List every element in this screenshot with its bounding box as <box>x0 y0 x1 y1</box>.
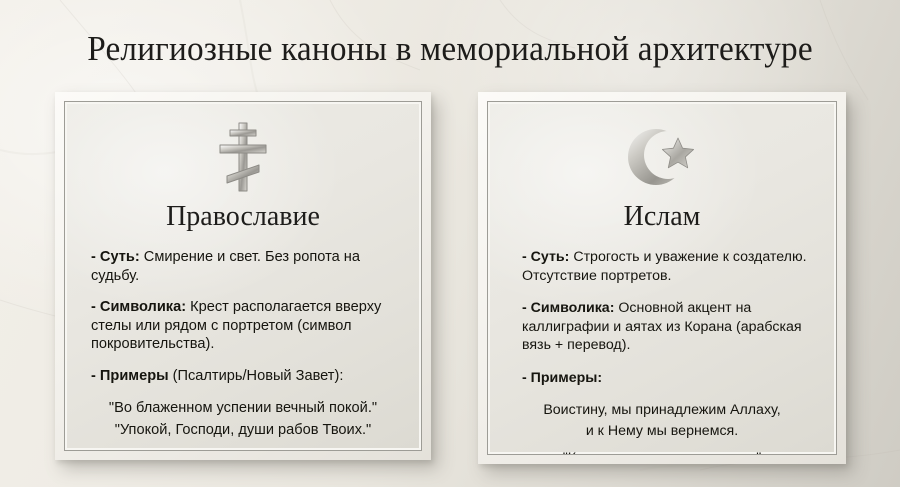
quote-list-islam: Воистину, мы принадлежим Аллаху, и к Нем… <box>504 401 820 455</box>
slide-canvas: Религиозные каноны в мемориальной архите… <box>0 0 900 487</box>
quote-item: "Во блаженном успении вечный покой." <box>83 398 403 418</box>
panel-heading-orthodox: Православие <box>81 200 405 234</box>
panel-islam: Ислам - Суть: Строгость и уважение к соз… <box>478 92 846 464</box>
bullet-item: - Суть: Строгость и уважение к создателю… <box>522 248 816 285</box>
bullet-item: - Символика: Основной акцент на каллигра… <box>522 299 816 355</box>
bullet-lead: - Символика: <box>91 299 186 315</box>
panel-orthodox: Православие - Суть: Смирение и свет. Без… <box>55 92 431 460</box>
panel-heading-islam: Ислам <box>504 200 820 234</box>
quote-item: "Упокой, Господи, души рабов Твоих." <box>83 420 403 440</box>
quote-item: и к Нему мы вернемся. <box>506 422 818 441</box>
bullet-lead: - Суть: <box>522 249 569 265</box>
bullet-item: - Примеры: <box>522 369 816 388</box>
bullet-lead: - Суть: <box>91 249 140 265</box>
panel-orthodox-inner: Православие - Суть: Смирение и свет. Без… <box>64 101 422 451</box>
bullet-lead: - Символика: <box>522 300 614 316</box>
bullet-list-islam: - Суть: Строгость и уважение к создателю… <box>504 248 820 387</box>
quote-list-orthodox: "Во блаженном успении вечный покой." "Уп… <box>81 398 405 440</box>
bullet-text: (Псалтирь/Новый Завет): <box>169 368 344 384</box>
bullet-item: - Суть: Смирение и свет. Без ропота на с… <box>91 248 399 285</box>
orthodox-cross-icon <box>81 118 405 196</box>
quote-item: Воистину, мы принадлежим Аллаху, <box>506 401 818 420</box>
page-title: Религиозные каноны в мемориальной архите… <box>23 27 878 71</box>
crescent-star-icon <box>504 118 820 196</box>
bullet-lead: - Примеры <box>91 368 169 384</box>
bullet-item: - Примеры (Псалтирь/Новый Завет): <box>91 367 399 386</box>
bullet-item: - Символика: Крест располагается вверху … <box>91 298 399 354</box>
bullet-list-orthodox: - Суть: Смирение и свет. Без ропота на с… <box>81 248 405 385</box>
panel-islam-inner: Ислам - Суть: Строгость и уважение к соз… <box>487 101 837 455</box>
quote-item: "Каждая душа вкусит смерть." <box>506 449 818 455</box>
bullet-lead: - Примеры: <box>522 370 602 386</box>
